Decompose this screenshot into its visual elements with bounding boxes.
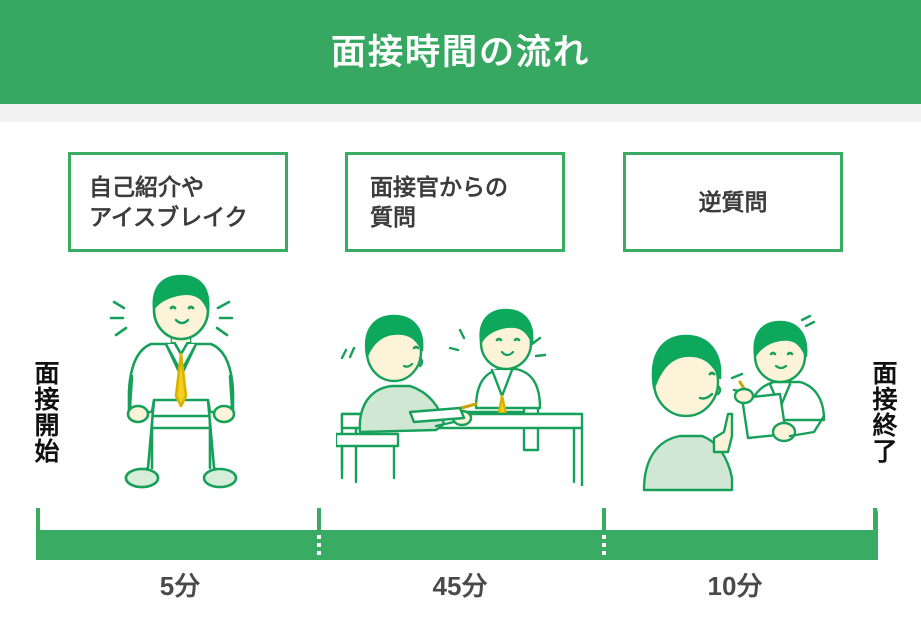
- applicant-asking-question-illustration: [628, 312, 864, 492]
- interview-end-caption: 面接終了: [862, 360, 896, 464]
- page-title: 面接時間の流れ: [331, 35, 590, 70]
- interview-start-caption: 面接開始: [24, 360, 58, 464]
- timeline-start-tick: [36, 508, 40, 536]
- header-separator-band: [0, 104, 921, 122]
- timeline-divider-dots-1: [317, 534, 321, 556]
- stage-box-reverse-questions: 逆質問: [623, 152, 843, 252]
- timeline-divider-1: [317, 508, 321, 532]
- duration-label-stage-3: 10分: [665, 566, 805, 603]
- page-header: 面接時間の流れ: [0, 0, 921, 104]
- stage-box-self-introduction: 自己紹介や アイスブレイク: [68, 152, 288, 252]
- timeline: 5分 45分 10分: [0, 495, 921, 621]
- stage-label: 面接官からの 質問: [348, 172, 508, 233]
- stage-label: 逆質問: [626, 187, 840, 217]
- timeline-end-tick: [873, 508, 877, 536]
- timeline-divider-2: [602, 508, 606, 532]
- timeline-divider-dots-2: [602, 534, 606, 556]
- stage-label: 自己紹介や アイスブレイク: [71, 172, 248, 233]
- seated-applicant-illustration: [96, 272, 266, 504]
- stage-box-interviewer-questions: 面接官からの 質問: [345, 152, 565, 252]
- interviewer-and-applicant-at-desk-illustration: [336, 300, 586, 486]
- duration-label-stage-2: 45分: [390, 566, 530, 603]
- duration-label-stage-1: 5分: [110, 566, 250, 603]
- timeline-bar: [36, 530, 877, 560]
